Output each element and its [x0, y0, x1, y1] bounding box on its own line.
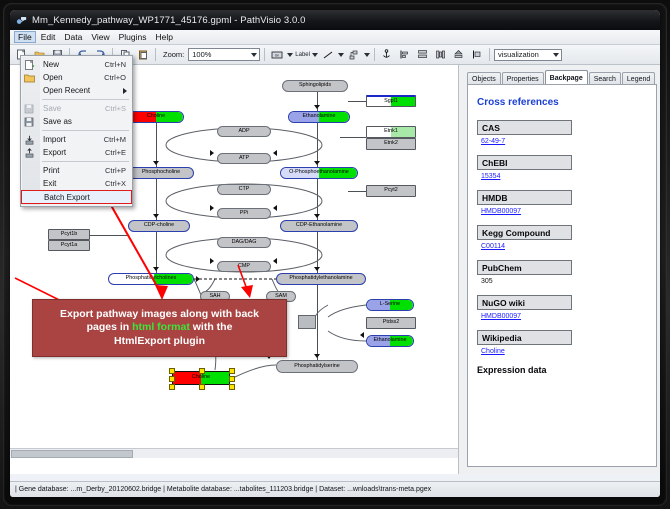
menu-item-accel: Ctrl+S	[105, 104, 126, 113]
menu-item-label: Open Recent	[43, 86, 90, 95]
menu-item-exit[interactable]: Exit Ctrl+X	[21, 177, 132, 190]
menu-item-save-as[interactable]: Save as	[21, 115, 132, 128]
save-as-icon	[24, 117, 35, 127]
menu-item-label: Import	[43, 135, 66, 144]
menu-item-label: Open	[43, 73, 63, 82]
menu-item-label: Save as	[43, 117, 72, 126]
menu-item-new[interactable]: New Ctrl+N	[21, 58, 132, 71]
menu-item-save: Save Ctrl+S	[21, 102, 132, 115]
menu-separator	[42, 161, 129, 162]
pathvisio-window: Mm_Kennedy_pathway_WP1771_45176.gpml - P…	[10, 10, 660, 497]
callout-text: Export pathway images along with back pa…	[54, 308, 265, 347]
save-icon	[24, 104, 35, 114]
callout-line1: Export pathway images along with back	[60, 308, 259, 320]
menu-item-accel: Ctrl+M	[104, 135, 126, 144]
menu-item-label: Batch Export	[44, 193, 90, 202]
menu-item-open[interactable]: Open Ctrl+O	[21, 71, 132, 84]
menu-item-accel: Ctrl+X	[105, 179, 126, 188]
menu-item-accel: Ctrl+P	[105, 166, 126, 175]
menu-item-batch-export[interactable]: Batch Export	[21, 190, 132, 204]
callout-line2-prefix: pages in	[87, 321, 133, 333]
export-icon	[24, 148, 35, 158]
menu-separator	[42, 99, 129, 100]
file-menu-dropdown[interactable]: New Ctrl+N Open Ctrl+O Open Recent Save	[20, 55, 133, 207]
menu-item-label: Save	[43, 104, 61, 113]
menu-item-accel: Ctrl+E	[105, 148, 126, 157]
annotation-callout: Export pathway images along with back pa…	[32, 299, 287, 357]
screenshot-root: Mm_Kennedy_pathway_WP1771_45176.gpml - P…	[0, 0, 670, 509]
menu-item-print[interactable]: Print Ctrl+P	[21, 164, 132, 177]
menu-item-export[interactable]: Export Ctrl+E	[21, 146, 132, 159]
menu-item-label: New	[43, 60, 59, 69]
menu-item-accel: Ctrl+O	[104, 73, 126, 82]
menu-item-import[interactable]: Import Ctrl+M	[21, 133, 132, 146]
callout-highlight: html format	[132, 321, 190, 333]
menu-item-label: Export	[43, 148, 66, 157]
menu-item-open-recent[interactable]: Open Recent	[21, 84, 132, 97]
submenu-arrow-icon	[123, 88, 127, 94]
menu-item-label: Print	[43, 166, 59, 175]
menu-item-label: Exit	[43, 179, 56, 188]
menu-item-accel: Ctrl+N	[105, 60, 126, 69]
callout-line3: HtmlExport plugin	[114, 335, 205, 347]
open-folder-icon	[24, 73, 35, 83]
callout-line2-suffix: with the	[190, 321, 233, 333]
import-icon	[24, 135, 35, 145]
menu-separator	[42, 130, 129, 131]
new-file-icon	[24, 60, 35, 70]
